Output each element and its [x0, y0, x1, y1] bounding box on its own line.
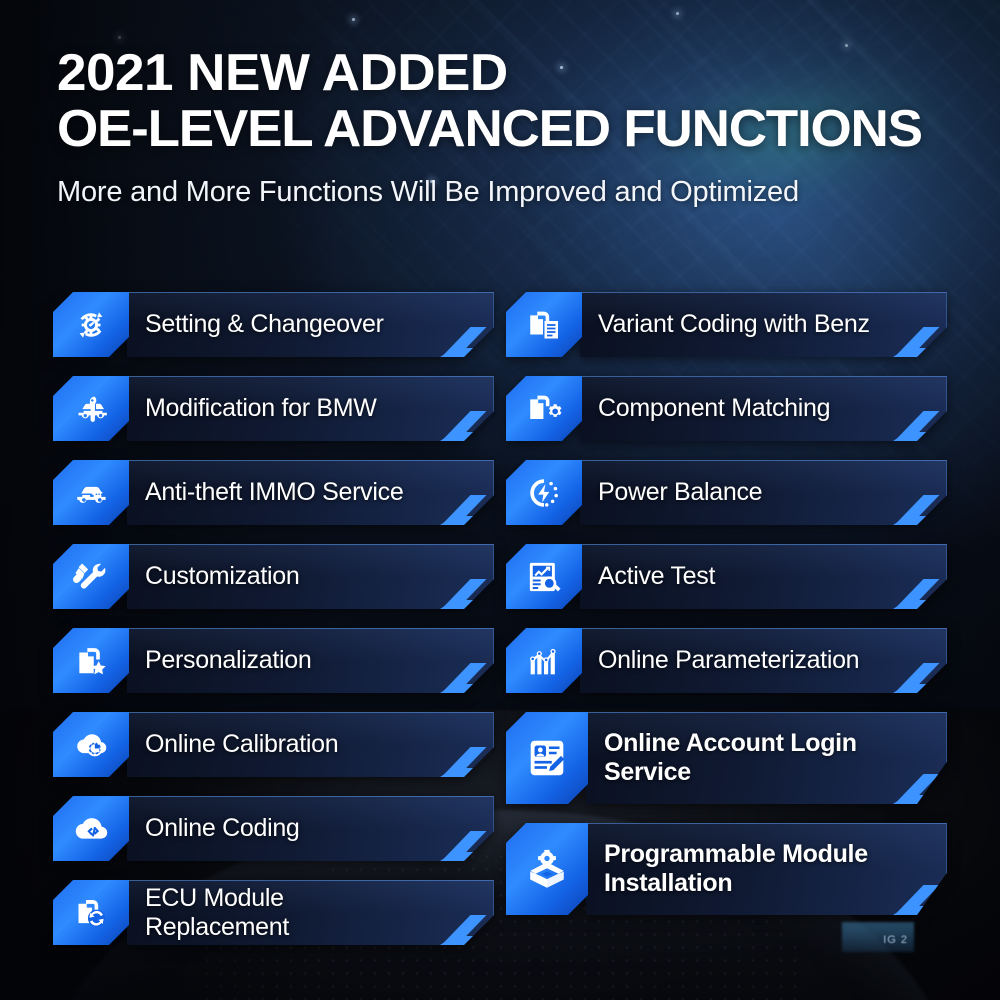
page-title: 2021 NEW ADDED OE-LEVEL ADVANCED FUNCTIO… [57, 46, 975, 157]
feature-card-body: Online Coding [127, 796, 494, 861]
feature-card-label: ECU Module Replacement [127, 884, 494, 942]
ecu-document-icon [506, 292, 582, 357]
id-card-edit-icon [506, 712, 588, 804]
feature-card-label: Programmable Module Installation [586, 840, 930, 898]
feature-card[interactable]: Setting & Changeover [53, 292, 494, 357]
ecu-gear-icon [506, 376, 582, 441]
feature-card-body: Online Account Login Service [586, 712, 947, 804]
feature-card-label: Component Matching [580, 394, 892, 423]
feature-card[interactable]: Online Coding [53, 796, 494, 861]
feature-card-body: Modification for BMW [127, 376, 494, 441]
feature-card-label: Online Parameterization [580, 646, 921, 675]
feature-card[interactable]: Personalization [53, 628, 494, 693]
card-accent-chevron [881, 544, 947, 609]
feature-card-body: Active Test [580, 544, 947, 609]
wrench-brush-icon [53, 544, 129, 609]
feature-card-body: Personalization [127, 628, 494, 693]
headline-line-1: 2021 NEW ADDED [57, 44, 508, 102]
feature-card-body: ECU Module Replacement [127, 880, 494, 945]
ecu-refresh-icon [53, 880, 129, 945]
feature-card-label: Personalization [127, 646, 373, 675]
feature-card-label: Setting & Changeover [127, 310, 446, 339]
card-accent-chevron [428, 796, 494, 861]
feature-card[interactable]: Online Account Login Service [506, 712, 947, 804]
feature-card[interactable]: Modification for BMW [53, 376, 494, 441]
poster-canvas: IG 2 2021 NEW ADDED OE-LEVEL ADVANCED FU… [0, 0, 1000, 1000]
feature-card-body: Variant Coding with Benz [580, 292, 947, 357]
feature-card-label: Online Account Login Service [586, 729, 919, 787]
car-key-icon [53, 460, 129, 525]
feature-card-label: Modification for BMW [127, 394, 439, 423]
header-block: 2021 NEW ADDED OE-LEVEL ADVANCED FUNCTIO… [57, 46, 957, 212]
feature-card-body: Component Matching [580, 376, 947, 441]
power-bolt-icon [506, 460, 582, 525]
card-accent-chevron [428, 628, 494, 693]
gear-refresh-icon [53, 292, 129, 357]
feature-card[interactable]: Programmable Module Installation [506, 823, 947, 915]
feature-card[interactable]: Component Matching [506, 376, 947, 441]
feature-card-label: Anti-theft IMMO Service [127, 478, 465, 507]
feature-card-body: Anti-theft IMMO Service [127, 460, 494, 525]
feature-card-label: Variant Coding with Benz [580, 310, 932, 339]
card-accent-chevron [428, 544, 494, 609]
feature-card-label: Active Test [580, 562, 777, 591]
ecu-star-icon [53, 628, 129, 693]
feature-card[interactable]: Anti-theft IMMO Service [53, 460, 494, 525]
feature-card-body: Power Balance [580, 460, 947, 525]
headline-line-2: OE-LEVEL ADVANCED FUNCTIONS [57, 102, 975, 158]
car-wrench-icon [53, 376, 129, 441]
card-accent-chevron [881, 460, 947, 525]
page-subtitle: More and More Functions Will Be Improved… [57, 174, 957, 212]
feature-card-label: Customization [127, 562, 362, 591]
feature-card[interactable]: Customization [53, 544, 494, 609]
feature-card[interactable]: ECU Module Replacement [53, 880, 494, 945]
open-box-gear-icon [506, 823, 588, 915]
feature-card[interactable]: Online Parameterization [506, 628, 947, 693]
chart-search-icon [506, 544, 582, 609]
feature-card-body: Setting & Changeover [127, 292, 494, 357]
feature-card-body: Programmable Module Installation [586, 823, 947, 915]
feature-card[interactable]: Active Test [506, 544, 947, 609]
feature-grid: Setting & ChangeoverModification for BMW… [53, 292, 947, 957]
bar-line-chart-icon [506, 628, 582, 693]
feature-card-body: Online Parameterization [580, 628, 947, 693]
feature-card-label: Power Balance [580, 478, 824, 507]
cloud-gear-icon [53, 712, 129, 777]
feature-card[interactable]: Variant Coding with Benz [506, 292, 947, 357]
feature-card[interactable]: Power Balance [506, 460, 947, 525]
feature-card-label: Online Calibration [127, 730, 400, 759]
card-accent-chevron [428, 712, 494, 777]
feature-column-right: Variant Coding with BenzComponent Matchi… [506, 292, 947, 934]
feature-card-label: Online Coding [127, 814, 362, 843]
feature-card-body: Online Calibration [127, 712, 494, 777]
feature-column-left: Setting & ChangeoverModification for BMW… [53, 292, 494, 964]
cloud-code-icon [53, 796, 129, 861]
feature-card-body: Customization [127, 544, 494, 609]
feature-card[interactable]: Online Calibration [53, 712, 494, 777]
